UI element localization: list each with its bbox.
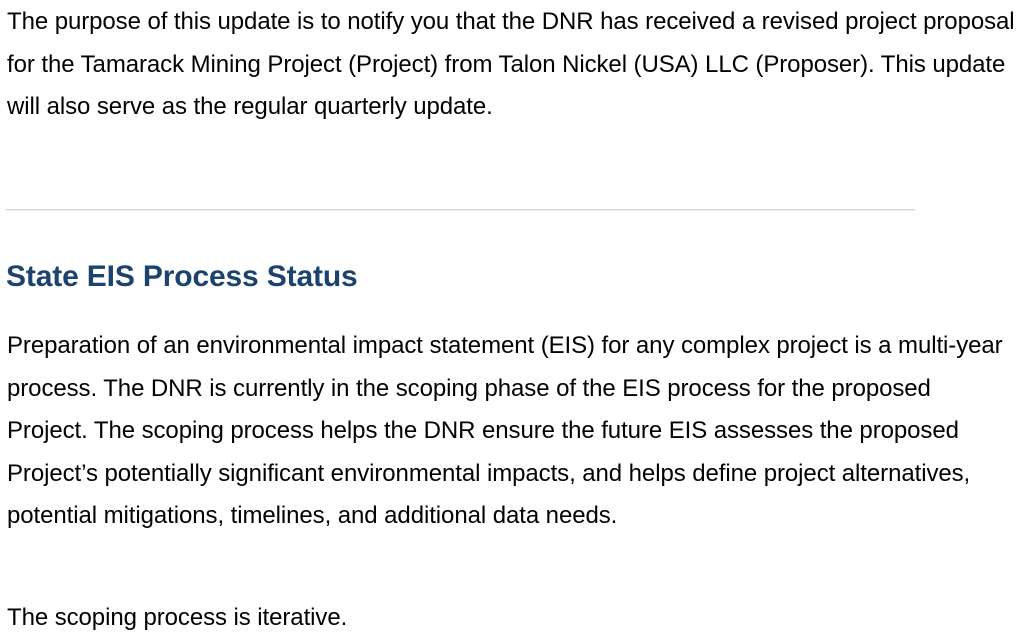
page-title: State EIS Process Status bbox=[6, 261, 358, 293]
eis-process-paragraph: Preparation of an environmental impact s… bbox=[7, 325, 1017, 538]
section-divider bbox=[6, 209, 915, 211]
document-page: The purpose of this update is to notify … bbox=[0, 0, 1024, 630]
intro-paragraph: The purpose of this update is to notify … bbox=[7, 0, 1016, 129]
scoping-iterative-paragraph: The scoping process is iterative. bbox=[7, 597, 1017, 640]
